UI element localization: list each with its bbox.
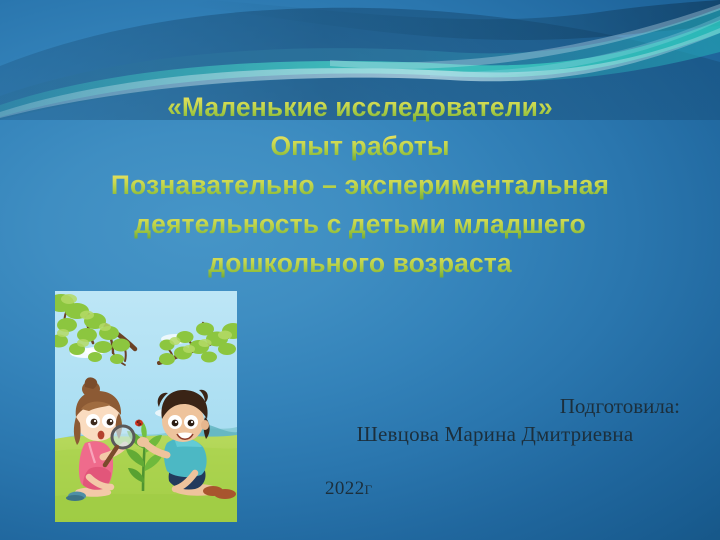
title-line-2: Опыт работы (40, 127, 680, 166)
children-examining-plant-illustration (55, 291, 237, 522)
illustration-canvas (55, 291, 237, 522)
title-line-3: Познавательно – экспериментальная (40, 166, 680, 205)
title-line-5: дошкольного возраста (40, 244, 680, 283)
author-credit-block: Подготовила: Шевцова Марина Дмитриевна 2… (300, 392, 690, 503)
slide-title: «Маленькие исследователи» Опыт работы По… (40, 88, 680, 283)
title-line-4: деятельность с детьми младшего (40, 205, 680, 244)
title-line-1: «Маленькие исследователи» (40, 88, 680, 127)
year-label: 2022г (300, 475, 690, 503)
prepared-by-label: Подготовила: (300, 392, 690, 420)
presentation-slide: «Маленькие исследователи» Опыт работы По… (0, 0, 720, 540)
author-name: Шевцова Марина Дмитриевна (300, 420, 690, 448)
